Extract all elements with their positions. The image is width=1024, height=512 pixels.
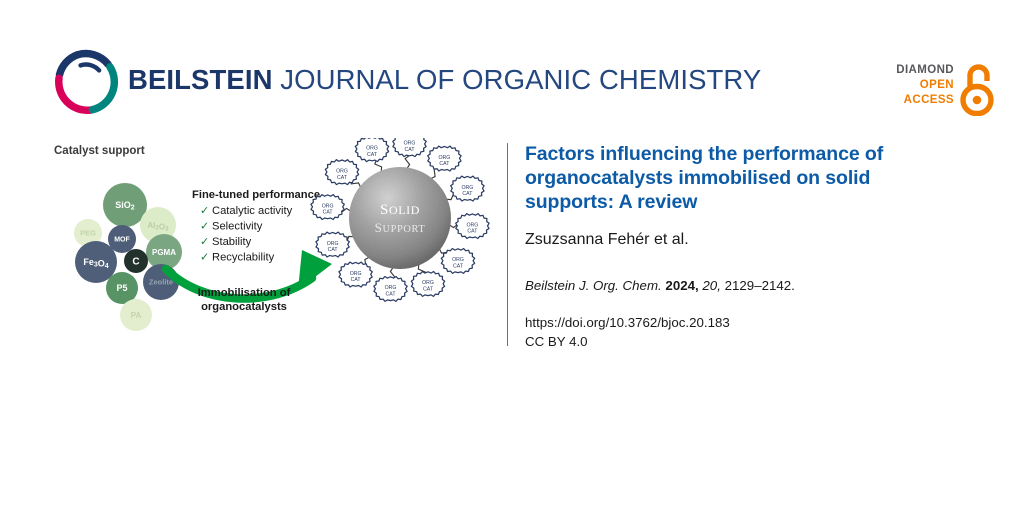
- gear-label-line1: ORG: [404, 140, 416, 146]
- organocatalyst-gear-icon: ORGCAT: [339, 262, 372, 287]
- article-info-panel: Factors influencing the performance of o…: [525, 143, 975, 351]
- support-bubble-label: PEG: [80, 229, 96, 238]
- catalyst-support-bubble-cluster: SiO2Al2O3PEGMOFPGMAFe3O4CZeoliteP5PA: [74, 183, 182, 331]
- citation-year: 2024,: [665, 278, 698, 293]
- performance-item: Recyclability: [212, 252, 275, 264]
- performance-item: Stability: [212, 236, 252, 248]
- gear-label-line2: CAT: [405, 147, 416, 153]
- gear-label-line1: ORG: [466, 222, 478, 228]
- gear-label-line1: ORG: [461, 185, 473, 191]
- gear-label-line1: ORG: [322, 203, 334, 209]
- content-divider: [507, 143, 508, 346]
- gear-label-line2: CAT: [351, 277, 362, 283]
- article-citation: Beilstein J. Org. Chem. 2024, 20, 2129–2…: [525, 277, 975, 296]
- graphical-abstract: Catalyst support SiO2Al2O3PEGMOFPGMAFe3O…: [40, 138, 500, 353]
- support-bubble-label: PA: [131, 311, 142, 320]
- organocatalyst-gear-icon: ORGCAT: [311, 195, 344, 220]
- gear-label-line2: CAT: [386, 292, 397, 298]
- organocatalyst-gear-icon: ORGCAT: [411, 272, 444, 297]
- performance-item: Selectivity: [212, 221, 263, 233]
- gear-label-line2: CAT: [337, 175, 348, 181]
- fine-tuned-performance-heading: Fine-tuned performance: [192, 189, 320, 201]
- gear-label-line2: CAT: [467, 229, 478, 235]
- organocatalyst-gear-icon: ORGCAT: [441, 249, 474, 274]
- gear-label-line2: CAT: [453, 264, 464, 270]
- support-bubble-label: MOF: [114, 237, 130, 244]
- article-doi-link[interactable]: https://doi.org/10.3762/bjoc.20.183: [525, 313, 975, 332]
- gear-label-line1: ORG: [366, 145, 378, 151]
- organocatalyst-gear-icon: ORGCAT: [393, 138, 426, 157]
- citation-journal: Beilstein J. Org. Chem.: [525, 278, 662, 293]
- gear-label-line1: ORG: [438, 155, 450, 161]
- support-bubble: PA: [120, 299, 152, 331]
- open-access-line-access: ACCESS: [886, 93, 954, 108]
- organocatalyst-gear-icon: ORGCAT: [428, 146, 461, 171]
- performance-item: Catalytic activity: [212, 205, 293, 217]
- gear-label-line2: CAT: [367, 152, 378, 158]
- solid-support-sphere: [349, 167, 451, 269]
- gear-label-line1: ORG: [385, 285, 397, 291]
- article-license[interactable]: CC BY 4.0: [525, 332, 975, 351]
- organocatalyst-gear-icon: ORGCAT: [374, 277, 407, 302]
- open-access-line-diamond: DIAMOND: [886, 63, 954, 78]
- solid-support-label-line1: SOLID: [380, 202, 420, 218]
- immobilisation-label-line1: Immobilisation of: [198, 287, 291, 299]
- open-padlock-icon: [960, 62, 994, 116]
- check-icon: ✓: [200, 205, 209, 217]
- check-icon: ✓: [200, 221, 209, 233]
- catalyst-support-heading: Catalyst support: [54, 145, 145, 157]
- organocatalyst-gear-icon: ORGCAT: [451, 176, 484, 201]
- journal-wordmark-light: JOURNAL OF ORGANIC CHEMISTRY: [273, 64, 762, 95]
- support-bubble-label: P5: [116, 283, 127, 293]
- journal-wordmark-bold: BEILSTEIN: [128, 64, 273, 95]
- gear-label-line2: CAT: [323, 210, 334, 216]
- support-bubble: Zeolite: [143, 264, 179, 300]
- fine-tuned-performance-list: ✓Catalytic activity✓Selectivity✓Stabilit…: [200, 205, 293, 264]
- gear-label-line1: ORG: [422, 280, 434, 286]
- gear-label-line1: ORG: [350, 271, 362, 277]
- open-access-label: DIAMOND OPEN ACCESS: [886, 63, 954, 108]
- check-icon: ✓: [200, 236, 209, 248]
- open-access-line-open: OPEN: [886, 78, 954, 93]
- citation-pages: 2129–2142.: [725, 278, 795, 293]
- diamond-open-access-badge[interactable]: DIAMOND OPEN ACCESS: [886, 62, 994, 120]
- organocatalyst-gear-icon: ORGCAT: [325, 160, 358, 185]
- gear-label-line2: CAT: [462, 191, 473, 197]
- gear-label-line2: CAT: [423, 287, 434, 293]
- gear-label-line1: ORG: [452, 257, 464, 263]
- support-bubble-label: C: [132, 257, 139, 268]
- journal-wordmark: BEILSTEIN JOURNAL OF ORGANIC CHEMISTRY: [128, 64, 761, 96]
- support-bubble: P5: [106, 272, 138, 304]
- gear-label-line2: CAT: [328, 247, 339, 253]
- article-authors: Zsuzsanna Fehér et al.: [525, 231, 975, 249]
- support-bubble-label: PGMA: [152, 248, 176, 257]
- gear-label-line2: CAT: [439, 161, 450, 167]
- masthead: BEILSTEIN JOURNAL OF ORGANIC CHEMISTRY D…: [0, 0, 1024, 130]
- citation-volume: 20,: [702, 278, 721, 293]
- support-bubble-label: Zeolite: [149, 278, 173, 287]
- organocatalyst-gear-icon: ORGCAT: [456, 214, 489, 239]
- gear-label-line1: ORG: [327, 241, 339, 247]
- support-bubble: C: [124, 249, 148, 273]
- check-icon: ✓: [200, 252, 209, 264]
- article-title[interactable]: Factors influencing the performance of o…: [525, 143, 957, 215]
- organocatalyst-gear-icon: ORGCAT: [316, 232, 349, 257]
- gear-label-line1: ORG: [336, 168, 348, 174]
- beilstein-swirl-logo-icon[interactable]: [52, 48, 120, 116]
- support-bubble: SiO2: [103, 183, 147, 227]
- immobilisation-label-line2: organocatalysts: [201, 301, 287, 313]
- organocatalyst-gear-icon: ORGCAT: [355, 138, 388, 162]
